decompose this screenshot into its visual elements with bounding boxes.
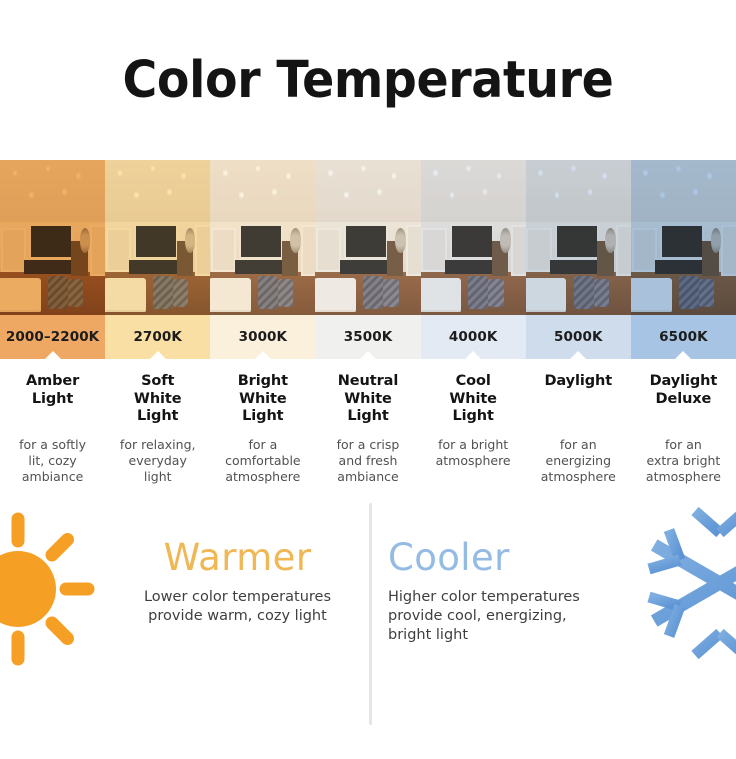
living-room-6500k bbox=[631, 160, 736, 315]
swatch-notch bbox=[569, 351, 587, 360]
light-type-cell: Daylightfor anenergizingatmosphere bbox=[526, 373, 631, 485]
light-type-description-line: comfortable bbox=[215, 453, 310, 469]
swatch-notch bbox=[44, 351, 62, 360]
light-type-cell: NeutralWhiteLightfor a crispand freshamb… bbox=[315, 373, 420, 485]
light-type-name-line: Light bbox=[215, 408, 310, 426]
cooler-body-line: Higher color temperatures bbox=[388, 588, 638, 607]
warmer-body-line: Lower color temperatures bbox=[115, 588, 360, 607]
light-type-description: for a brightatmosphere bbox=[426, 437, 521, 469]
kelvin-label-cell: 3500K bbox=[315, 315, 420, 359]
kelvin-label-cell: 5000K bbox=[526, 315, 631, 359]
cooler-body: Higher color temperatures provide cool, … bbox=[388, 588, 638, 645]
kelvin-label-cell: 6500K bbox=[631, 315, 736, 359]
light-type-description-line: and fresh bbox=[320, 453, 415, 469]
living-room-5000k bbox=[526, 160, 631, 315]
page-title: Color Temperature bbox=[123, 51, 614, 110]
color-temperature-photo-strip bbox=[0, 160, 736, 315]
swatch-photo-3000K bbox=[210, 160, 315, 315]
light-type-cell: SoftWhiteLightfor relaxing,everydaylight bbox=[105, 373, 210, 485]
light-type-description-line: for an bbox=[636, 437, 731, 453]
cooler-heading: Cooler bbox=[388, 539, 638, 576]
kelvin-value: 5000K bbox=[554, 329, 603, 345]
warmer-body-line: provide warm, cozy light bbox=[115, 607, 360, 626]
swatch-notch bbox=[254, 351, 272, 360]
swatch-photo-3500K bbox=[315, 160, 420, 315]
light-type-cell: CoolWhiteLightfor a brightatmosphere bbox=[421, 373, 526, 485]
kelvin-swatch-row: 2000–2200K2700K3000K3500K4000K5000K6500K bbox=[0, 315, 736, 359]
light-type-description: for a softlylit, cozyambiance bbox=[5, 437, 100, 485]
sun-icon bbox=[0, 509, 98, 669]
light-type-name-line: Amber bbox=[5, 373, 100, 391]
light-type-description-line: everyday bbox=[110, 453, 205, 469]
cooler-panel: Cooler Higher color temperatures provide… bbox=[368, 503, 736, 759]
kelvin-label-cell: 4000K bbox=[421, 315, 526, 359]
light-type-name-line: Deluxe bbox=[636, 391, 731, 409]
light-type-description: for a crispand freshambiance bbox=[320, 437, 415, 485]
swatch-notch bbox=[359, 351, 377, 360]
light-type-name: BrightWhiteLight bbox=[215, 373, 310, 427]
description-row: AmberLightfor a softlylit, cozyambianceS… bbox=[0, 359, 736, 485]
cooler-text-block: Cooler Higher color temperatures provide… bbox=[388, 539, 638, 645]
warmer-panel: Warmer Lower color temperatures provide … bbox=[0, 503, 368, 759]
light-type-cell: AmberLightfor a softlylit, cozyambiance bbox=[0, 373, 105, 485]
warmer-heading: Warmer bbox=[115, 539, 360, 576]
kelvin-value: 4000K bbox=[449, 329, 498, 345]
cooler-body-line: provide cool, energizing, bbox=[388, 607, 638, 626]
warmer-text-block: Warmer Lower color temperatures provide … bbox=[115, 539, 360, 626]
living-room-2700k bbox=[105, 160, 210, 315]
light-type-name-line: Light bbox=[426, 408, 521, 426]
light-type-cell: BrightWhiteLightfor acomfortableatmosphe… bbox=[210, 373, 315, 485]
swatch-notch bbox=[464, 351, 482, 360]
living-room-3000k bbox=[210, 160, 315, 315]
light-type-cell: DaylightDeluxefor anextra brightatmosphe… bbox=[631, 373, 736, 485]
snowflake-icon bbox=[640, 503, 736, 663]
kelvin-label-cell: 3000K bbox=[210, 315, 315, 359]
light-type-description-line: for a crisp bbox=[320, 437, 415, 453]
light-type-description-line: atmosphere bbox=[426, 453, 521, 469]
light-type-description: for anextra brightatmosphere bbox=[636, 437, 731, 485]
light-type-name-line: Bright bbox=[215, 373, 310, 391]
kelvin-value: 6500K bbox=[659, 329, 708, 345]
light-type-name: DaylightDeluxe bbox=[636, 373, 731, 427]
kelvin-label-cell: 2000–2200K bbox=[0, 315, 105, 359]
light-type-description-line: atmosphere bbox=[531, 469, 626, 485]
light-type-name-line: Cool bbox=[426, 373, 521, 391]
light-type-name-line: Daylight bbox=[636, 373, 731, 391]
living-room-4000k bbox=[421, 160, 526, 315]
light-type-description-line: atmosphere bbox=[636, 469, 731, 485]
light-type-description-line: energizing bbox=[531, 453, 626, 469]
light-type-name-line: Light bbox=[320, 408, 415, 426]
living-room-3500k bbox=[315, 160, 420, 315]
light-type-description-line: extra bright bbox=[636, 453, 731, 469]
light-type-name-line: Soft bbox=[110, 373, 205, 391]
light-type-description-line: ambiance bbox=[5, 469, 100, 485]
kelvin-value: 2000–2200K bbox=[6, 329, 99, 345]
kelvin-value: 3000K bbox=[239, 329, 288, 345]
warm-cool-comparison: Warmer Lower color temperatures provide … bbox=[0, 503, 736, 759]
title-area: Color Temperature bbox=[0, 0, 736, 160]
swatch-notch bbox=[149, 351, 167, 360]
light-type-name-line: White bbox=[426, 391, 521, 409]
light-type-description-line: for relaxing, bbox=[110, 437, 205, 453]
light-type-description-line: lit, cozy bbox=[5, 453, 100, 469]
light-type-description-line: atmosphere bbox=[215, 469, 310, 485]
light-type-description-line: for a bbox=[215, 437, 310, 453]
light-type-description-line: ambiance bbox=[320, 469, 415, 485]
kelvin-label-cell: 2700K bbox=[105, 315, 210, 359]
light-type-name: Daylight bbox=[531, 373, 626, 427]
light-type-description-line: light bbox=[110, 469, 205, 485]
light-type-description-line: for a bright bbox=[426, 437, 521, 453]
swatch-photo-5000K bbox=[526, 160, 631, 315]
swatch-notch bbox=[674, 351, 692, 360]
light-type-description: for relaxing,everydaylight bbox=[110, 437, 205, 485]
light-type-description: for anenergizingatmosphere bbox=[531, 437, 626, 485]
light-type-name: NeutralWhiteLight bbox=[320, 373, 415, 427]
swatch-photo-4000K bbox=[421, 160, 526, 315]
light-type-description: for acomfortableatmosphere bbox=[215, 437, 310, 485]
swatch-photo-6500K bbox=[631, 160, 736, 315]
light-type-name-line: Light bbox=[5, 391, 100, 409]
light-type-description-line: for an bbox=[531, 437, 626, 453]
warmer-body: Lower color temperatures provide warm, c… bbox=[115, 588, 360, 626]
swatch-photo-2700K bbox=[105, 160, 210, 315]
light-type-name-line: White bbox=[215, 391, 310, 409]
light-type-name-line: White bbox=[110, 391, 205, 409]
living-room-2000k bbox=[0, 160, 105, 315]
light-type-name-line: White bbox=[320, 391, 415, 409]
cooler-body-line: bright light bbox=[388, 626, 638, 645]
light-type-name-line: Daylight bbox=[531, 373, 626, 391]
swatch-photo-20002200K bbox=[0, 160, 105, 315]
light-type-name: CoolWhiteLight bbox=[426, 373, 521, 427]
light-type-name: SoftWhiteLight bbox=[110, 373, 205, 427]
light-type-description-line: for a softly bbox=[5, 437, 100, 453]
kelvin-value: 2700K bbox=[133, 329, 182, 345]
light-type-name-line: Light bbox=[110, 408, 205, 426]
kelvin-value: 3500K bbox=[344, 329, 393, 345]
light-type-name-line: Neutral bbox=[320, 373, 415, 391]
light-type-name: AmberLight bbox=[5, 373, 100, 427]
